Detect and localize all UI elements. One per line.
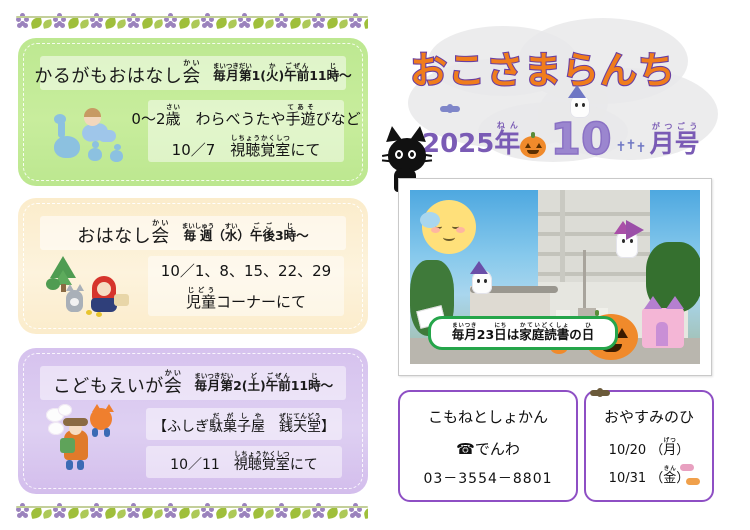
- grape-cluster: [68, 18, 79, 28]
- bat-icon: [590, 388, 610, 398]
- baby-and-ducks-illustration: [52, 100, 144, 172]
- grape-vine-border-top: [16, 8, 368, 30]
- issue-year: 2025年ねん: [422, 121, 520, 160]
- cross-icon: ✝: [636, 141, 647, 156]
- candy-icon: [680, 464, 694, 471]
- grape-cluster: [154, 510, 163, 518]
- issue-number: 10: [550, 120, 611, 160]
- grape-cluster: [339, 20, 348, 28]
- red-riding-hood-and-wolf-illustration: [44, 254, 146, 326]
- grape-cluster: [265, 20, 274, 28]
- masthead: おこさまらんち 2025年ねん 10 ✝ ✝ ✝ 月号がつごう: [382, 12, 742, 172]
- grape-cluster: [142, 508, 153, 518]
- issue-line: 2025年ねん 10 ✝ ✝ ✝ 月号がつごう: [422, 120, 700, 160]
- movie-title: 【ふしぎ駄だ菓が子し屋や 銭天堂ぜにてんどう】: [153, 412, 335, 436]
- ghost-icon: [472, 270, 492, 294]
- grape-cluster: [364, 508, 368, 518]
- event-panel-ohanashi: おはなし会かい 毎週まいしゅう（水すい）午後ごご3時じ～ 10／1、8、15: [18, 198, 368, 334]
- grape-cluster: [191, 510, 200, 518]
- moon-icon: [422, 200, 476, 254]
- candy-icon: [686, 478, 700, 485]
- grape-cluster: [228, 20, 237, 28]
- grape-cluster: [154, 20, 163, 28]
- grape-cluster: [31, 18, 42, 28]
- grape-cluster: [105, 18, 116, 28]
- grape-cluster: [228, 510, 237, 518]
- page-title: おこさまらんち: [410, 40, 676, 94]
- event-detail-line2: 児童じどうコーナーにて: [186, 286, 306, 312]
- grape-cluster: [253, 508, 264, 518]
- library-name: こもねとしょかん: [400, 406, 576, 427]
- kid-in-coat-and-fox-illustration: [46, 404, 146, 484]
- event-detail-box-movie-title: 【ふしぎ駄だ菓が子し屋や 銭天堂ぜにてんどう】: [146, 408, 342, 440]
- witch-hat-icon: [470, 261, 488, 274]
- vine-stem: [16, 506, 368, 508]
- event-schedule-kurugamo: 毎月第まいつきだい1(火)か午前ごぜん11時じ～: [213, 62, 352, 84]
- event-panel-eiga: こどもえいが会かい 毎月第まいつきだい2(土)ど午前ごぜん11時じ～: [18, 348, 368, 494]
- grape-cluster: [117, 20, 126, 28]
- grape-cluster: [364, 18, 368, 28]
- event-name-ohanashi: おはなし会かい: [77, 219, 170, 248]
- phone-label-row: ☎でんわ: [400, 438, 576, 459]
- newsletter-page: かるがもおはなし会かい 毎月第まいつきだい1(火)か午前ごぜん11時じ～ 0～2…: [0, 0, 750, 530]
- grape-cluster: [339, 510, 348, 518]
- event-detail-line1: 10／1、8、15、22、29: [161, 260, 331, 281]
- witch-hat-icon: [568, 85, 586, 98]
- grape-cluster: [191, 20, 200, 28]
- event-name-eiga: こどもえいが会かい: [53, 369, 183, 398]
- grape-cluster: [31, 508, 42, 518]
- grape-cluster: [302, 510, 311, 518]
- grape-cluster: [43, 20, 52, 28]
- event-detail-line2: 10／7 視聴覚室しちょうかくしつにて: [172, 134, 321, 160]
- event-schedule-ohanashi: 毎週まいしゅう（水すい）午後ごご3時じ～: [182, 222, 309, 244]
- holiday-date-1: 10/20 （月げつ）: [586, 438, 712, 458]
- event-detail-line2: 10／11 視聴覚室しちょうかくしつにて: [170, 450, 318, 474]
- event-title-strip: おはなし会かい 毎週まいしゅう（水すい）午後ごご3時じ～: [40, 216, 346, 250]
- issue-month-label: 月号がつごう: [650, 122, 700, 160]
- grape-cluster: [253, 18, 264, 28]
- flag-icon: [626, 220, 644, 240]
- grape-cluster: [105, 508, 116, 518]
- pumpkin-icon: [520, 136, 546, 158]
- event-title-strip: かるがもおはなし会かい 毎月第まいつきだい1(火)か午前ごぜん11時じ～: [40, 56, 346, 90]
- grape-cluster: [327, 508, 338, 518]
- phone-number: 03－3554－8801: [400, 468, 576, 488]
- library-photo: 毎月まいつき23日にちは家庭読書かていどくしょの日ひ: [410, 190, 700, 364]
- vine-stem: [16, 16, 368, 18]
- event-schedule-eiga: 毎月第まいつきだい2(土)ど午前ごぜん11時じ～: [194, 372, 333, 394]
- telephone-icon: ☎: [456, 440, 475, 458]
- grape-vine-border-bottom: [16, 498, 368, 520]
- caption-banner: 毎月まいつき23日にちは家庭読書かていどくしょの日ひ: [428, 316, 618, 350]
- grape-cluster: [290, 18, 301, 28]
- event-detail-line1: 0～2歳さい わらべうたや手遊てあそびなど: [131, 103, 360, 129]
- grape-cluster: [302, 20, 311, 28]
- event-panel-kurugamo: かるがもおはなし会かい 毎月第まいつきだい1(火)か午前ごぜん11時じ～ 0～2…: [18, 38, 368, 186]
- grape-cluster: [80, 20, 89, 28]
- event-detail-box-ohanashi: 10／1、8、15、22、29 児童じどうコーナーにて: [148, 256, 344, 316]
- event-detail-box-eiga-date: 10／11 視聴覚室しちょうかくしつにて: [146, 446, 342, 478]
- caption-text: 毎月まいつき23日にちは家庭読書かていどくしょの日ひ: [452, 323, 595, 343]
- photo-frame: 毎月まいつき23日にちは家庭読書かていどくしょの日ひ: [398, 178, 712, 376]
- grape-cluster: [216, 508, 227, 518]
- castle-roof-icon: [644, 296, 662, 309]
- grape-cluster: [179, 508, 190, 518]
- bat-icon: [440, 104, 460, 114]
- event-title-strip: こどもえいが会かい 毎月第まいつきだい2(土)ど午前ごぜん11時じ～: [40, 366, 346, 400]
- library-info-box: こもねとしょかん ☎でんわ 03－3554－8801: [398, 390, 578, 502]
- grape-cluster: [216, 18, 227, 28]
- grape-cluster: [265, 510, 274, 518]
- grape-cluster: [80, 510, 89, 518]
- holiday-title: おやすみのひ: [586, 406, 712, 427]
- grape-cluster: [43, 510, 52, 518]
- holiday-info-box: おやすみのひ 10/20 （月げつ） 10/31 （金きん）: [584, 390, 714, 502]
- grape-cluster: [179, 18, 190, 28]
- grape-cluster: [117, 510, 126, 518]
- ghost-icon: [570, 94, 590, 118]
- event-name-kurugamo: かるがもおはなし会かい: [34, 59, 201, 88]
- event-detail-box-kurugamo: 0～2歳さい わらべうたや手遊てあそびなど 10／7 視聴覚室しちょうかくしつに…: [148, 100, 344, 162]
- grape-cluster: [142, 18, 153, 28]
- grape-cluster: [68, 508, 79, 518]
- grape-cluster: [290, 508, 301, 518]
- castle-roof-icon: [666, 296, 684, 309]
- grape-cluster: [327, 18, 338, 28]
